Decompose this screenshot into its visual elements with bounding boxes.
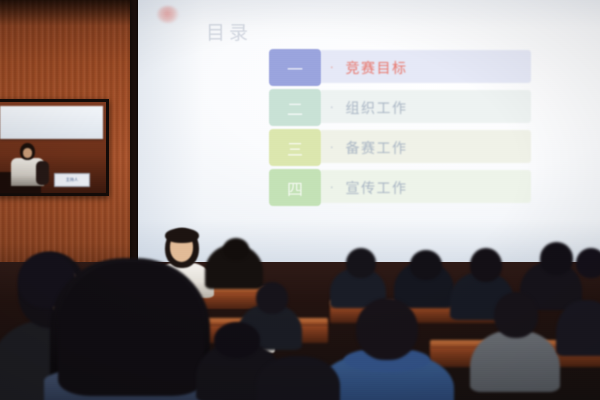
audience-head — [410, 250, 442, 280]
monitor-nameplate: 主持人 — [54, 173, 90, 187]
toc-item-numeral-box: 四 — [269, 169, 321, 206]
conference-room-photo: 目录 一 · 竞赛目标 二 · — [0, 0, 600, 400]
toc-item-label: 组织工作 — [346, 98, 408, 118]
toc-item: 二 · 组织工作 — [269, 88, 531, 127]
toc-item: 四 · 宣传工作 — [269, 168, 531, 207]
audience-head — [576, 248, 600, 278]
assistant-head — [223, 238, 249, 260]
toc-item-numeral: 一 — [287, 56, 303, 80]
projection-screen: 目录 一 · 竞赛目标 二 · — [138, 0, 600, 262]
monitor-picture: 主持人 — [0, 102, 106, 193]
toc-item-bullet: · — [330, 141, 334, 154]
toc-item-label: 备赛工作 — [346, 138, 408, 158]
toc-item-bullet: · — [330, 61, 334, 74]
audience-head — [470, 248, 502, 282]
toc-item-numeral-box: 一 — [269, 49, 321, 86]
audience-hair-overlay — [58, 262, 204, 396]
slide-title: 目录 — [206, 18, 252, 45]
toc-item-label: 宣传工作 — [346, 178, 408, 198]
audience-head — [256, 282, 288, 314]
monitor-inner-screen-icon — [0, 106, 103, 139]
toc-item-bullet: · — [330, 101, 334, 114]
audience-head — [494, 292, 538, 338]
monitor-speaker-arm — [36, 161, 49, 185]
toc-item-label: 竞赛目标 — [346, 58, 408, 78]
monitor-speaker-face — [23, 148, 32, 158]
slide-table-of-contents: 一 · 竞赛目标 二 · 组织工作 — [269, 48, 531, 208]
audience-head — [356, 298, 418, 360]
toc-item: 一 · 竞赛目标 — [269, 48, 531, 87]
presenter-hair-front — [165, 228, 199, 243]
toc-item-numeral-box: 二 — [269, 89, 321, 126]
toc-item: 三 · 备赛工作 — [269, 128, 531, 167]
toc-item-numeral-box: 三 — [269, 129, 321, 166]
wall-mounted-monitor: 主持人 — [0, 99, 109, 196]
audience-person-grey-jacket — [470, 330, 560, 392]
presentation-slide: 目录 一 · 竞赛目标 二 · — [138, 0, 600, 262]
audience-head — [214, 322, 260, 358]
toc-item-numeral: 三 — [287, 136, 303, 160]
red-circular-logo-icon — [157, 6, 179, 23]
toc-item-numeral: 四 — [287, 176, 303, 200]
toc-item-bullet: · — [330, 181, 334, 194]
monitor-nameplate-text: 主持人 — [66, 177, 79, 183]
audience-head — [346, 248, 376, 278]
toc-item-numeral: 二 — [287, 96, 303, 120]
audience-head — [540, 242, 573, 275]
